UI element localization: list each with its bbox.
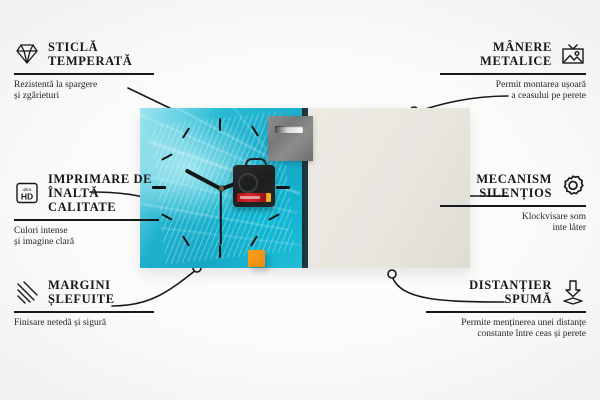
feature-title: MECANISM SILENȚIOS	[476, 172, 552, 200]
feature-desc: Klockvisare som inte låter	[440, 212, 586, 235]
feature-desc: Permit montarea ușoară a ceasului pe per…	[440, 80, 586, 103]
hour-tick	[182, 127, 190, 138]
quartz-movement-box	[233, 165, 275, 207]
feature-title: IMPRIMARE DE ÎNALTĂ CALITATE	[48, 172, 159, 214]
hour-tick	[250, 235, 258, 246]
divider	[14, 311, 154, 313]
aa-battery	[237, 193, 271, 202]
feature-callout-print: ultra HD IMPRIMARE DE ÎNALTĂ CALITATE Cu…	[14, 172, 159, 249]
feature-desc: Rezistentă la spargere și zgârieturi	[14, 80, 154, 103]
hour-tick	[251, 125, 259, 136]
ultra-hd-badge-icon: ultra HD	[14, 180, 40, 206]
leader-dot-foam	[388, 270, 396, 278]
hour-tick	[276, 186, 290, 189]
hour-hand	[185, 168, 222, 190]
feature-desc: Permite menținerea unei distanțe constan…	[426, 318, 586, 341]
hanger-keyhole-slot	[275, 126, 303, 133]
divider	[14, 219, 159, 221]
feature-title: STICLĂ TEMPERATĂ	[48, 40, 132, 68]
battery-label	[240, 196, 260, 199]
hour-tick	[219, 118, 221, 131]
feature-desc: Finisare netedă și sigură	[14, 318, 154, 330]
feature-callout-edges: MARGINI ȘLEFUITE Finisare netedă și sigu…	[14, 278, 154, 329]
wall-frame-hanger-icon	[560, 41, 586, 67]
feature-title: MÂNERE METALICE	[480, 40, 552, 68]
divider	[440, 205, 586, 207]
divider	[426, 311, 586, 313]
polished-edges-icon	[14, 279, 40, 305]
diamond-icon	[14, 41, 40, 67]
movement-shaft	[238, 173, 258, 193]
hour-tick	[219, 245, 221, 258]
feature-desc: Culori intense și imagine clară	[14, 226, 159, 249]
infographic-canvas: STICLĂ TEMPERATĂ Rezistentă la spargere …	[0, 0, 600, 400]
hand-center-cap	[219, 186, 224, 191]
foam-spacer-arrow-icon	[560, 279, 586, 305]
orange-foam-spacer	[248, 250, 265, 267]
second-hand	[220, 189, 222, 245]
feature-title: DISTANȚIER SPUMĂ	[469, 278, 552, 306]
hour-tick	[161, 213, 173, 220]
feature-callout-mechanism: MECANISM SILENȚIOS Klockvisare som inte …	[440, 172, 586, 235]
feature-callout-hooks: MÂNERE METALICE Permit montarea ușoară a…	[440, 40, 586, 103]
movement-hanging-loop	[245, 158, 267, 170]
divider	[14, 73, 154, 75]
hour-tick	[182, 235, 190, 246]
gear-icon	[560, 173, 586, 199]
metal-hanger-plate	[268, 116, 313, 161]
svg-text:HD: HD	[21, 192, 33, 202]
feature-callout-foam: DISTANȚIER SPUMĂ Permite menținerea unei…	[426, 278, 586, 341]
feature-callout-glass: STICLĂ TEMPERATĂ Rezistentă la spargere …	[14, 40, 154, 103]
hour-tick	[161, 153, 173, 160]
hour-tick	[268, 213, 280, 220]
feature-title: MARGINI ȘLEFUITE	[48, 278, 115, 306]
divider	[440, 73, 586, 75]
